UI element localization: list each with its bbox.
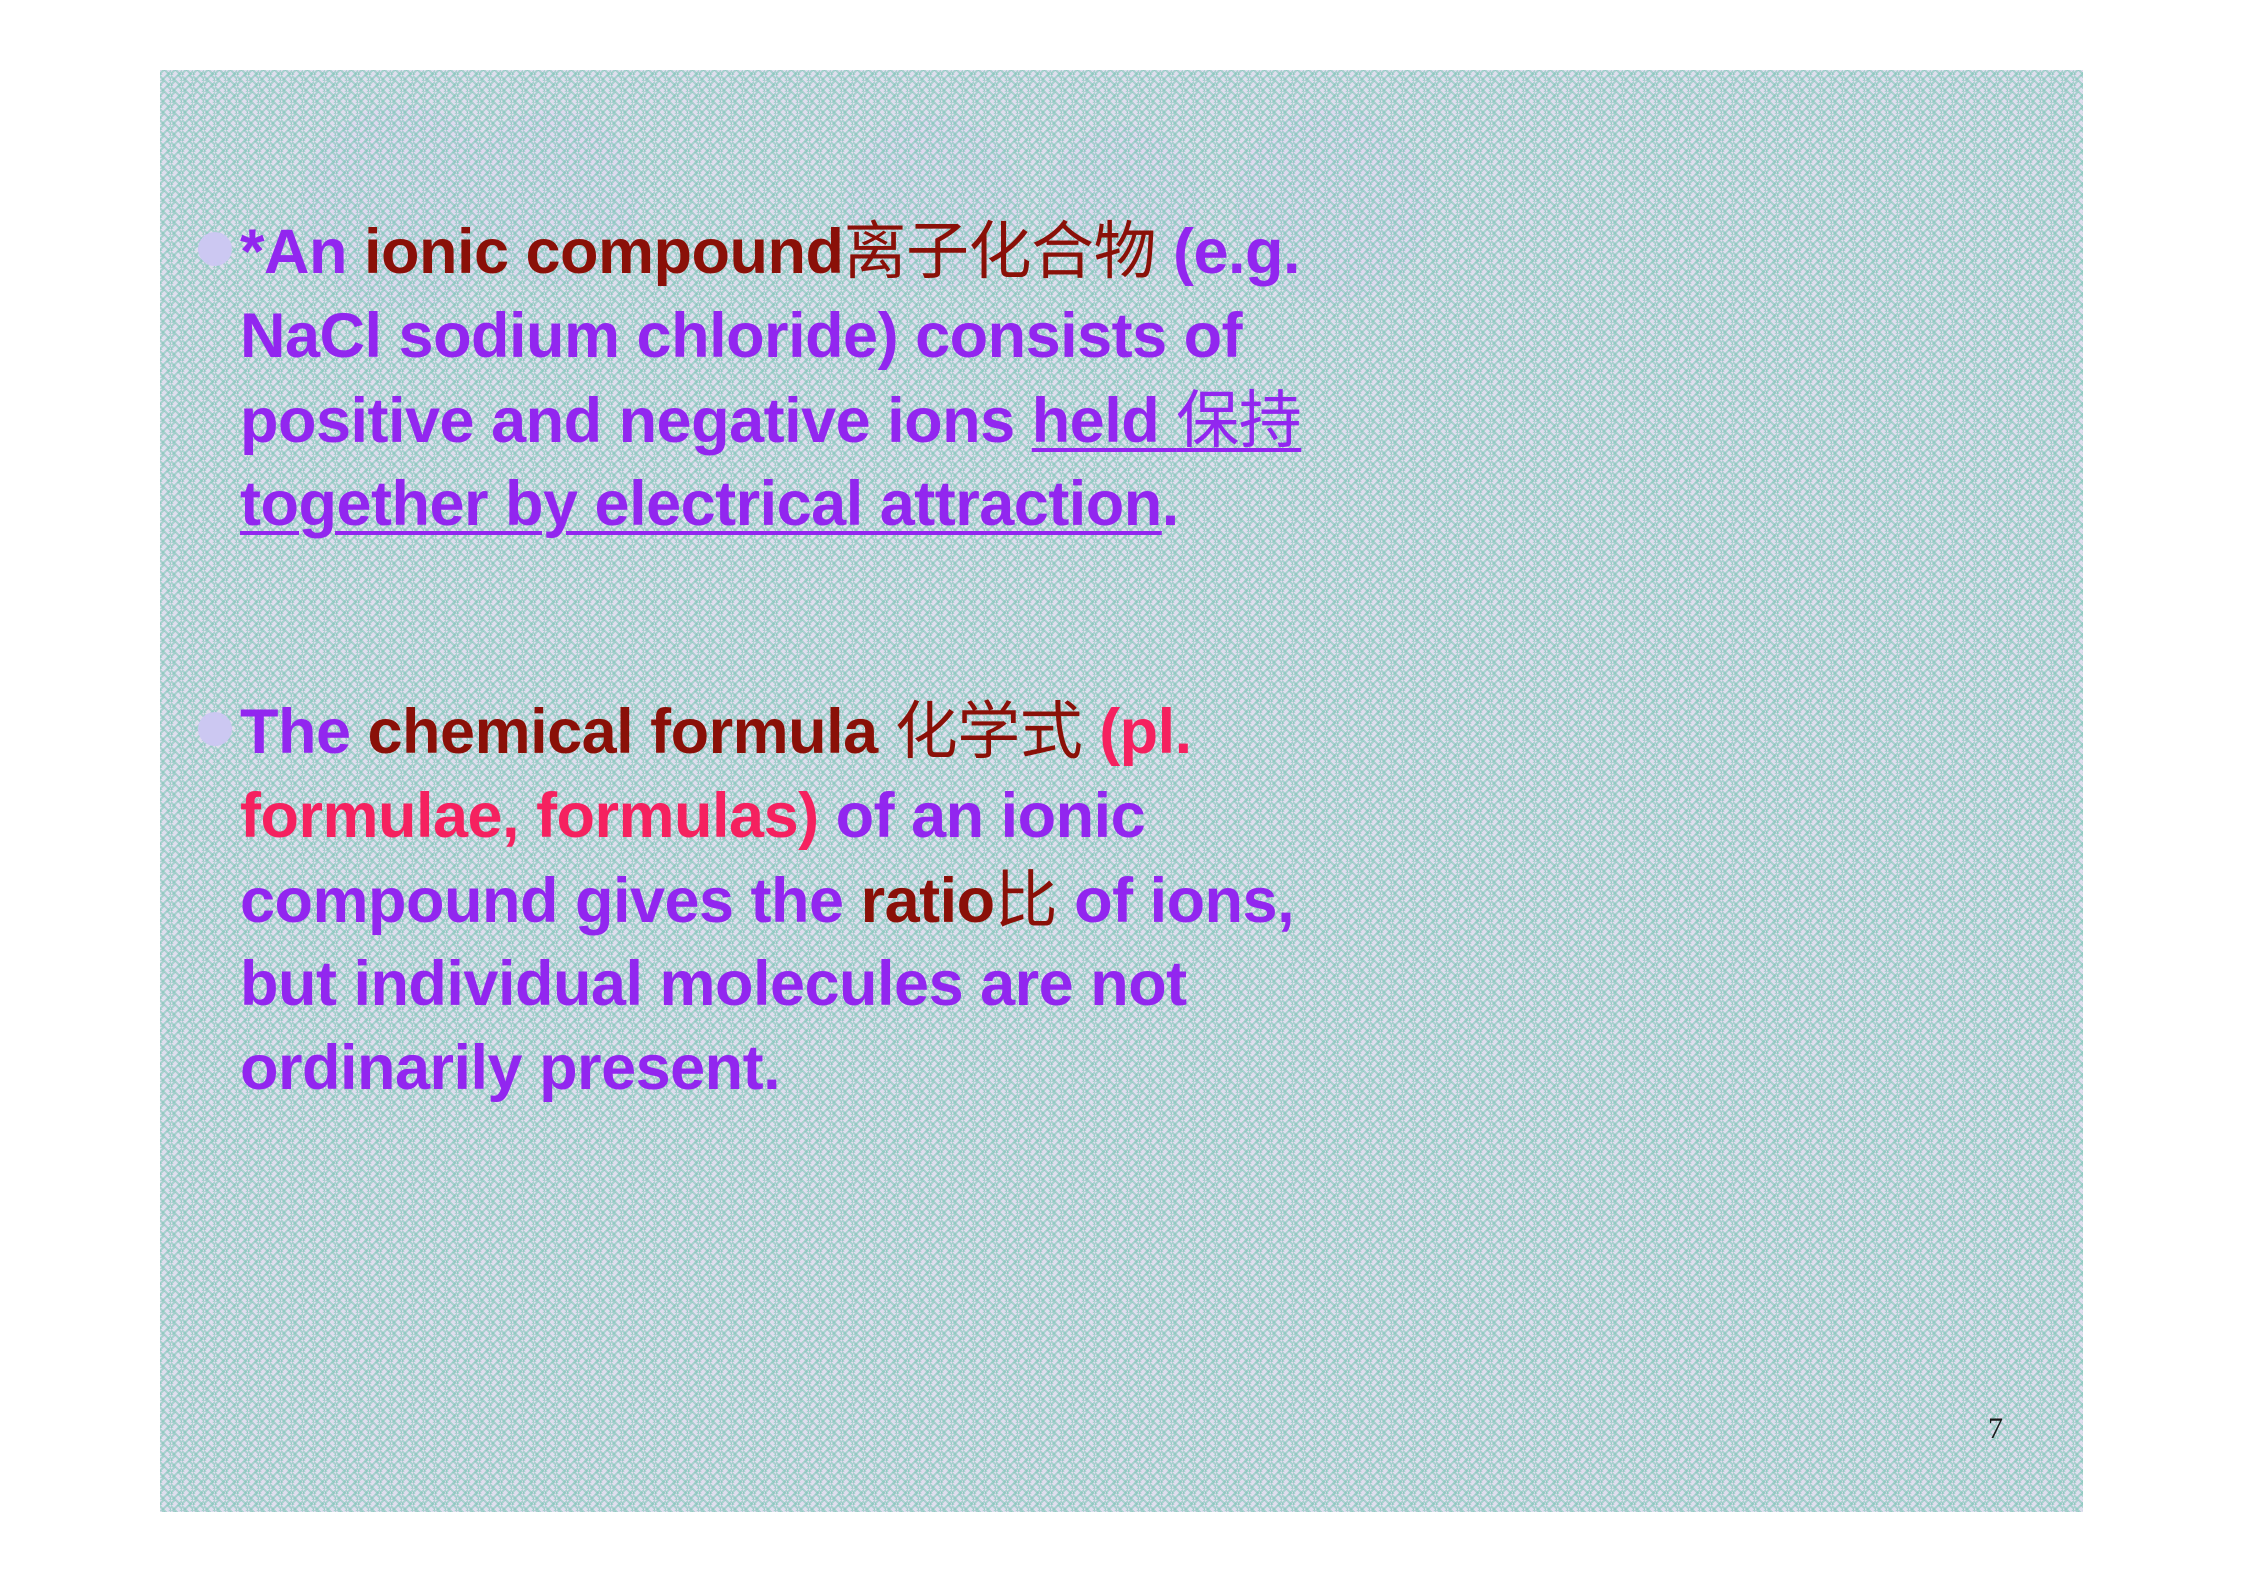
bullet-1-seg-3-cjk: 离子化合物 [843,215,1156,288]
slide-canvas: *An ionic compound离子化合物 (e.g. NaCl sodiu… [0,0,2246,1586]
slide-content: *An ionic compound离子化合物 (e.g. NaCl sodiu… [160,70,2083,1512]
bullet-item-2: The chemical formula 化学式 (pl. formulae, … [198,690,1378,1111]
bullet-1-seg-2: ionic compound [364,217,843,287]
page-number: 7 [1988,1412,2003,1446]
filled-circle-bullet-icon [198,232,232,266]
bullet-1-seg-5-underlined: held [1032,386,1177,456]
bullet-1-text: *An ionic compound离子化合物 (e.g. NaCl sodiu… [240,210,1413,547]
bullet-1-seg-1: *An [240,217,364,287]
bullet-1-seg-8-period: . [1162,469,1179,539]
bullet-1-seg-6-cjk-underlined: 保持 [1176,384,1301,457]
presentation-slide: *An ionic compound离子化合物 (e.g. NaCl sodiu… [160,70,2083,1512]
bullet-2-seg-7-cjk: 比 [995,864,1058,937]
bullet-item-1: *An ionic compound离子化合物 (e.g. NaCl sodiu… [198,210,1413,547]
bullet-2-text: The chemical formula 化学式 (pl. formulae, … [240,690,1378,1111]
bullet-2-seg-2: chemical formula [368,697,895,767]
bullet-1-seg-7-underlined: together by electrical attraction [240,469,1162,539]
bullet-2-seg-1: The [240,697,368,767]
bullet-2-seg-3-cjk: 化学式 [895,695,1083,768]
bullet-2-seg-6: ratio [861,866,995,936]
filled-circle-bullet-icon [198,712,232,746]
